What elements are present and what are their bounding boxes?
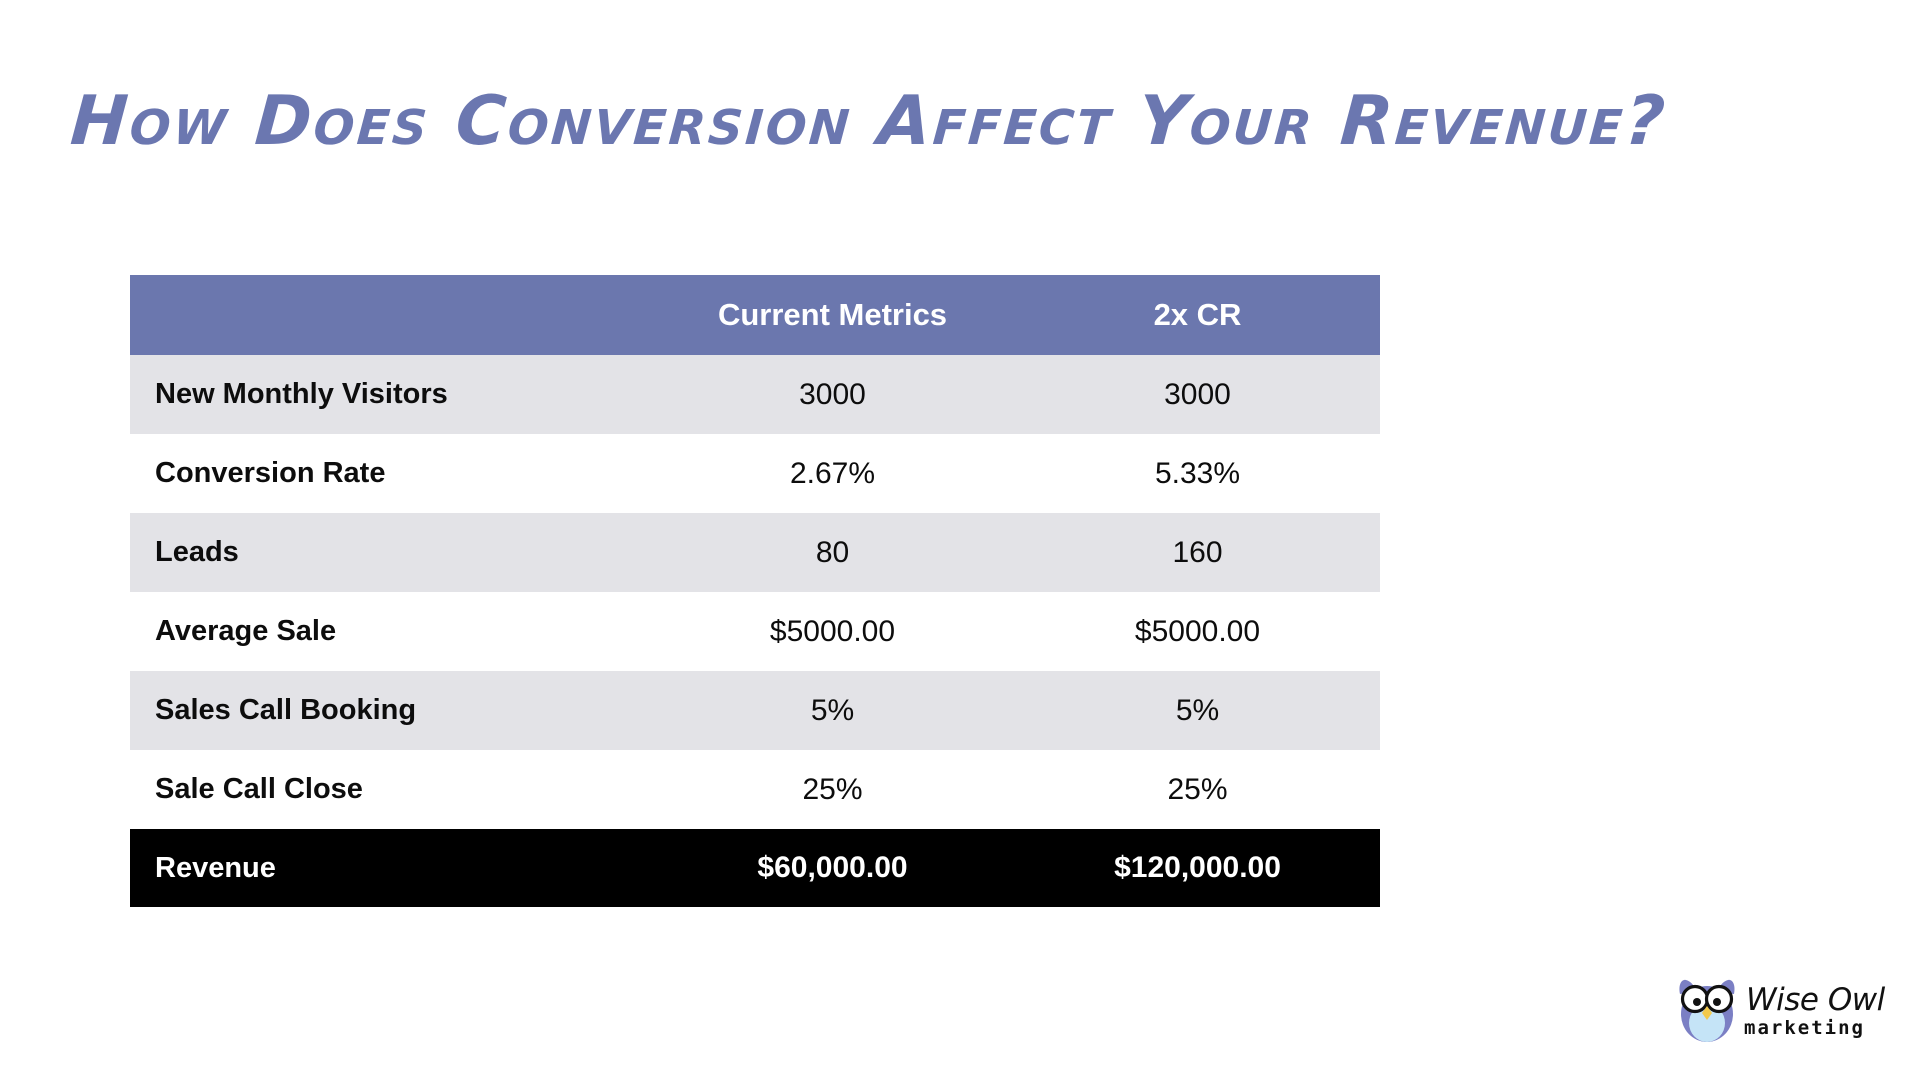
table-row: Conversion Rate 2.67% 5.33% bbox=[130, 434, 1380, 513]
row-value-current: 5% bbox=[650, 671, 1015, 750]
row-label-sales-call-booking: Sales Call Booking bbox=[130, 671, 650, 750]
column-header-label bbox=[130, 275, 650, 355]
row-value-double: $120,000.00 bbox=[1015, 829, 1380, 907]
table-row-total: Revenue $60,000.00 $120,000.00 bbox=[130, 829, 1380, 907]
logo: Wise Owl marketing bbox=[1676, 972, 1906, 1050]
row-value-double: 3000 bbox=[1015, 355, 1380, 434]
row-label-leads: Leads bbox=[130, 513, 650, 592]
row-value-current: $5000.00 bbox=[650, 592, 1015, 671]
row-value-current: 25% bbox=[650, 750, 1015, 829]
row-value-current: 3000 bbox=[650, 355, 1015, 434]
table-row: Sale Call Close 25% 25% bbox=[130, 750, 1380, 829]
column-header-2x-cr: 2x CR bbox=[1015, 275, 1380, 355]
owl-icon bbox=[1676, 978, 1738, 1044]
row-value-double: 160 bbox=[1015, 513, 1380, 592]
row-value-current: 2.67% bbox=[650, 434, 1015, 513]
row-value-current: 80 bbox=[650, 513, 1015, 592]
logo-brand-tagline: marketing bbox=[1744, 1019, 1885, 1038]
row-value-current: $60,000.00 bbox=[650, 829, 1015, 907]
column-header-current-metrics: Current Metrics bbox=[650, 275, 1015, 355]
row-label-average-sale: Average Sale bbox=[130, 592, 650, 671]
row-value-double: 5.33% bbox=[1015, 434, 1380, 513]
slide-canvas: How Does Conversion Affect Your Revenue?… bbox=[0, 0, 1918, 1080]
row-value-double: 25% bbox=[1015, 750, 1380, 829]
table-row: Sales Call Booking 5% 5% bbox=[130, 671, 1380, 750]
row-label-new-monthly-visitors: New Monthly Visitors bbox=[130, 355, 650, 434]
logo-brand-name: Wise Owl bbox=[1746, 985, 1885, 1016]
metrics-table: Current Metrics 2x CR New Monthly Visito… bbox=[130, 275, 1380, 907]
table-header: Current Metrics 2x CR bbox=[130, 275, 1380, 355]
table-row: New Monthly Visitors 3000 3000 bbox=[130, 355, 1380, 434]
logo-wordmark: Wise Owl marketing bbox=[1744, 985, 1885, 1038]
table-body: New Monthly Visitors 3000 3000 Conversio… bbox=[130, 355, 1380, 907]
row-value-double: 5% bbox=[1015, 671, 1380, 750]
table-row: Leads 80 160 bbox=[130, 513, 1380, 592]
row-label-sale-call-close: Sale Call Close bbox=[130, 750, 650, 829]
row-value-double: $5000.00 bbox=[1015, 592, 1380, 671]
row-label-conversion-rate: Conversion Rate bbox=[130, 434, 650, 513]
table-header-row: Current Metrics 2x CR bbox=[130, 275, 1380, 355]
row-label-revenue: Revenue bbox=[130, 829, 650, 907]
page-title: How Does Conversion Affect Your Revenue? bbox=[68, 82, 1874, 162]
table-row: Average Sale $5000.00 $5000.00 bbox=[130, 592, 1380, 671]
